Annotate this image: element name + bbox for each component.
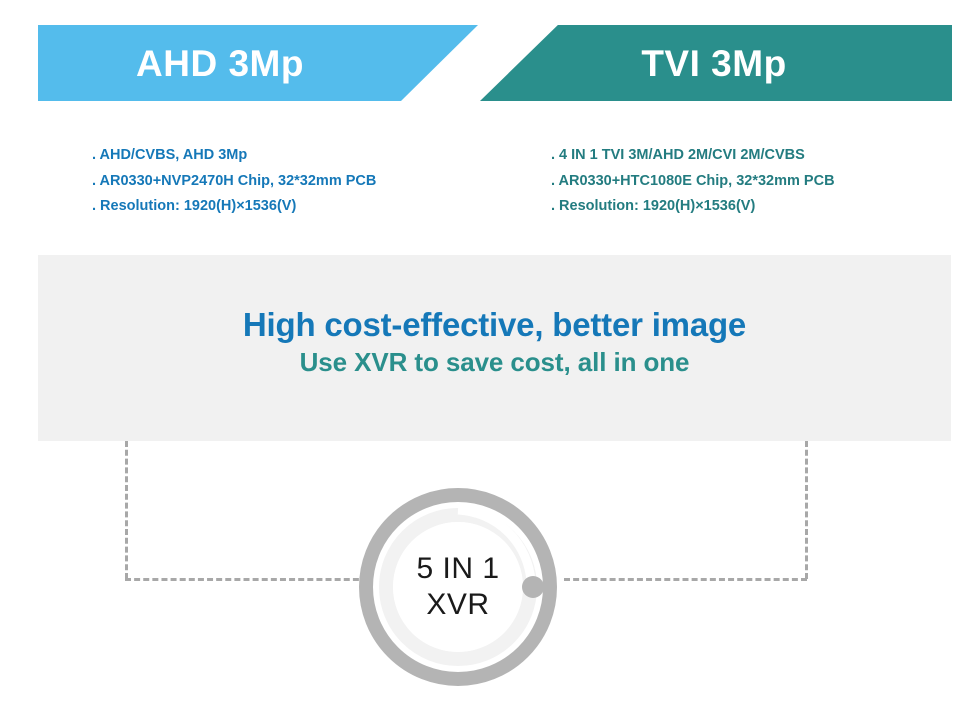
headline-block: High cost-effective, better image Use XV… — [38, 305, 951, 379]
connector-horizontal-right — [564, 578, 807, 581]
spec-item: . AHD/CVBS, AHD 3Mp — [92, 143, 376, 169]
banner-ahd-title: AHD 3Mp — [136, 45, 304, 82]
spec-item: . 4 IN 1 TVI 3M/AHD 2M/CVI 2M/CVBS — [551, 143, 835, 169]
xvr-dial: 5 IN 1 XVR — [356, 485, 560, 689]
banner-tvi: TVI 3Mp — [480, 25, 952, 101]
spec-item: . Resolution: 1920(H)×1536(V) — [92, 194, 376, 220]
connector-vertical-right — [805, 441, 808, 579]
spec-item: . Resolution: 1920(H)×1536(V) — [551, 194, 835, 220]
headline-secondary: Use XVR to save cost, all in one — [38, 345, 951, 379]
dial-indicator-dot — [522, 576, 544, 598]
connector-horizontal-left — [125, 578, 368, 581]
headline-primary: High cost-effective, better image — [38, 305, 951, 345]
banner-tvi-title: TVI 3Mp — [641, 45, 786, 82]
spec-item: . AR0330+NVP2470H Chip, 32*32mm PCB — [92, 169, 376, 195]
spec-list-ahd: . AHD/CVBS, AHD 3Mp . AR0330+NVP2470H Ch… — [92, 143, 376, 220]
banner-ahd: AHD 3Mp — [38, 25, 478, 101]
dial-face — [393, 522, 523, 652]
spec-item: . AR0330+HTC1080E Chip, 32*32mm PCB — [551, 169, 835, 195]
banner-row: AHD 3Mp TVI 3Mp — [0, 25, 976, 101]
spec-list-tvi: . 4 IN 1 TVI 3M/AHD 2M/CVI 2M/CVBS . AR0… — [551, 143, 835, 220]
connector-vertical-left — [125, 441, 128, 579]
